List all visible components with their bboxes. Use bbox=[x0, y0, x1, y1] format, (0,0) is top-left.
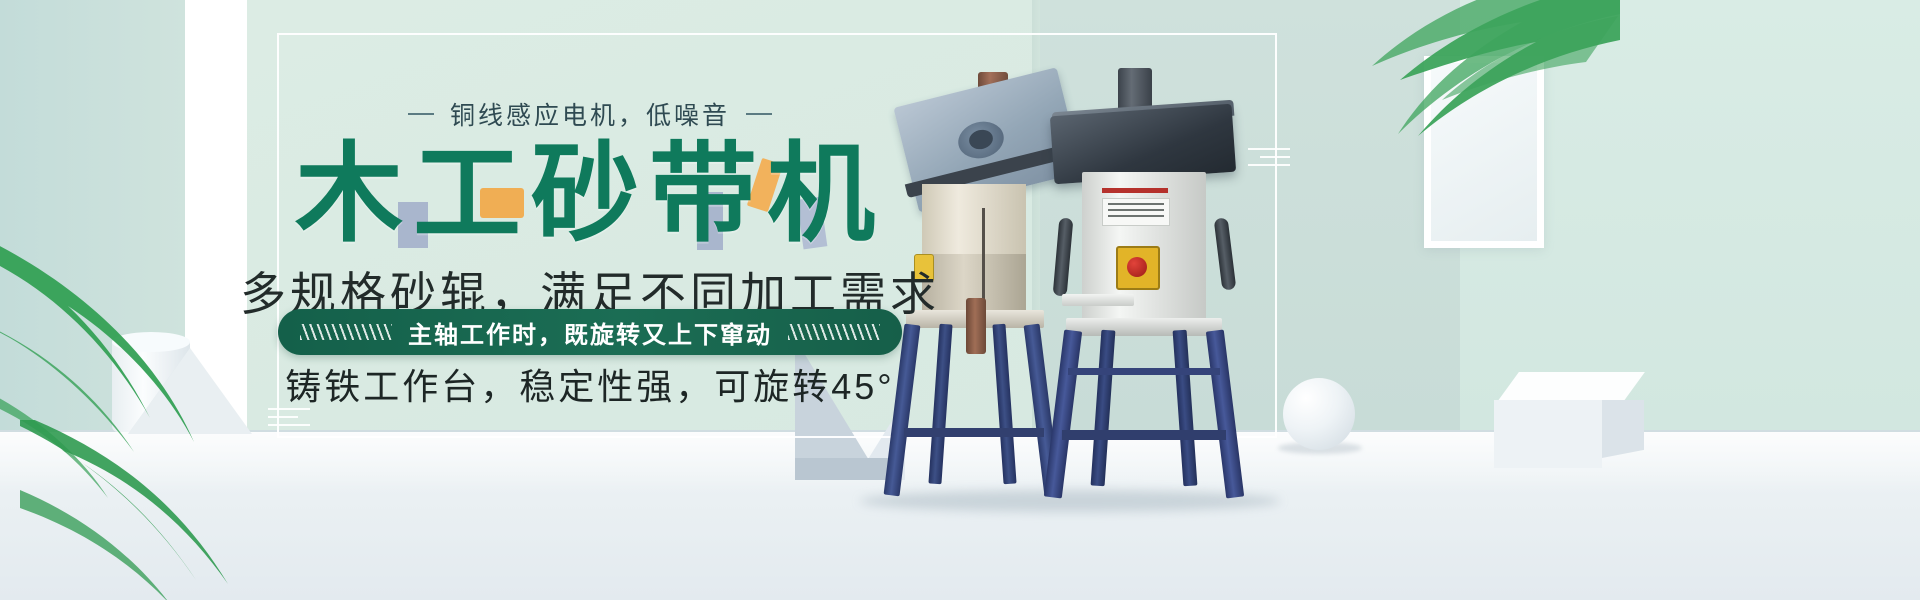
highlight-pill: 主轴工作时，既旋转又上下窜动 bbox=[278, 309, 902, 355]
banner-copy: 铜线感应电机，低噪音 木工砂带机 多规格砂辊，满足不同加工需求 主轴工作时，既旋… bbox=[0, 0, 1920, 600]
footer-text: 铸铁工作台，稳定性强，可旋转45° bbox=[0, 358, 1180, 410]
hatch-marks-right-icon bbox=[788, 324, 880, 340]
eyebrow-text: 铜线感应电机，低噪音 bbox=[450, 96, 730, 132]
page-title: 木工砂带机 bbox=[0, 140, 1180, 248]
highlight-pill-text: 主轴工作时，既旋转又上下窜动 bbox=[408, 315, 772, 350]
hatch-marks-left-icon bbox=[300, 324, 392, 340]
product-banner: 铜线感应电机，低噪音 木工砂带机 多规格砂辊，满足不同加工需求 主轴工作时，既旋… bbox=[0, 0, 1920, 600]
eyebrow-row: 铜线感应电机，低噪音 bbox=[0, 96, 1180, 132]
highlight-pill-row: 主轴工作时，既旋转又上下窜动 bbox=[0, 309, 1180, 355]
eyebrow-dash-right-icon bbox=[746, 113, 772, 115]
title-block: 木工砂带机 bbox=[0, 140, 1180, 248]
eyebrow-dash-left-icon bbox=[408, 113, 434, 115]
